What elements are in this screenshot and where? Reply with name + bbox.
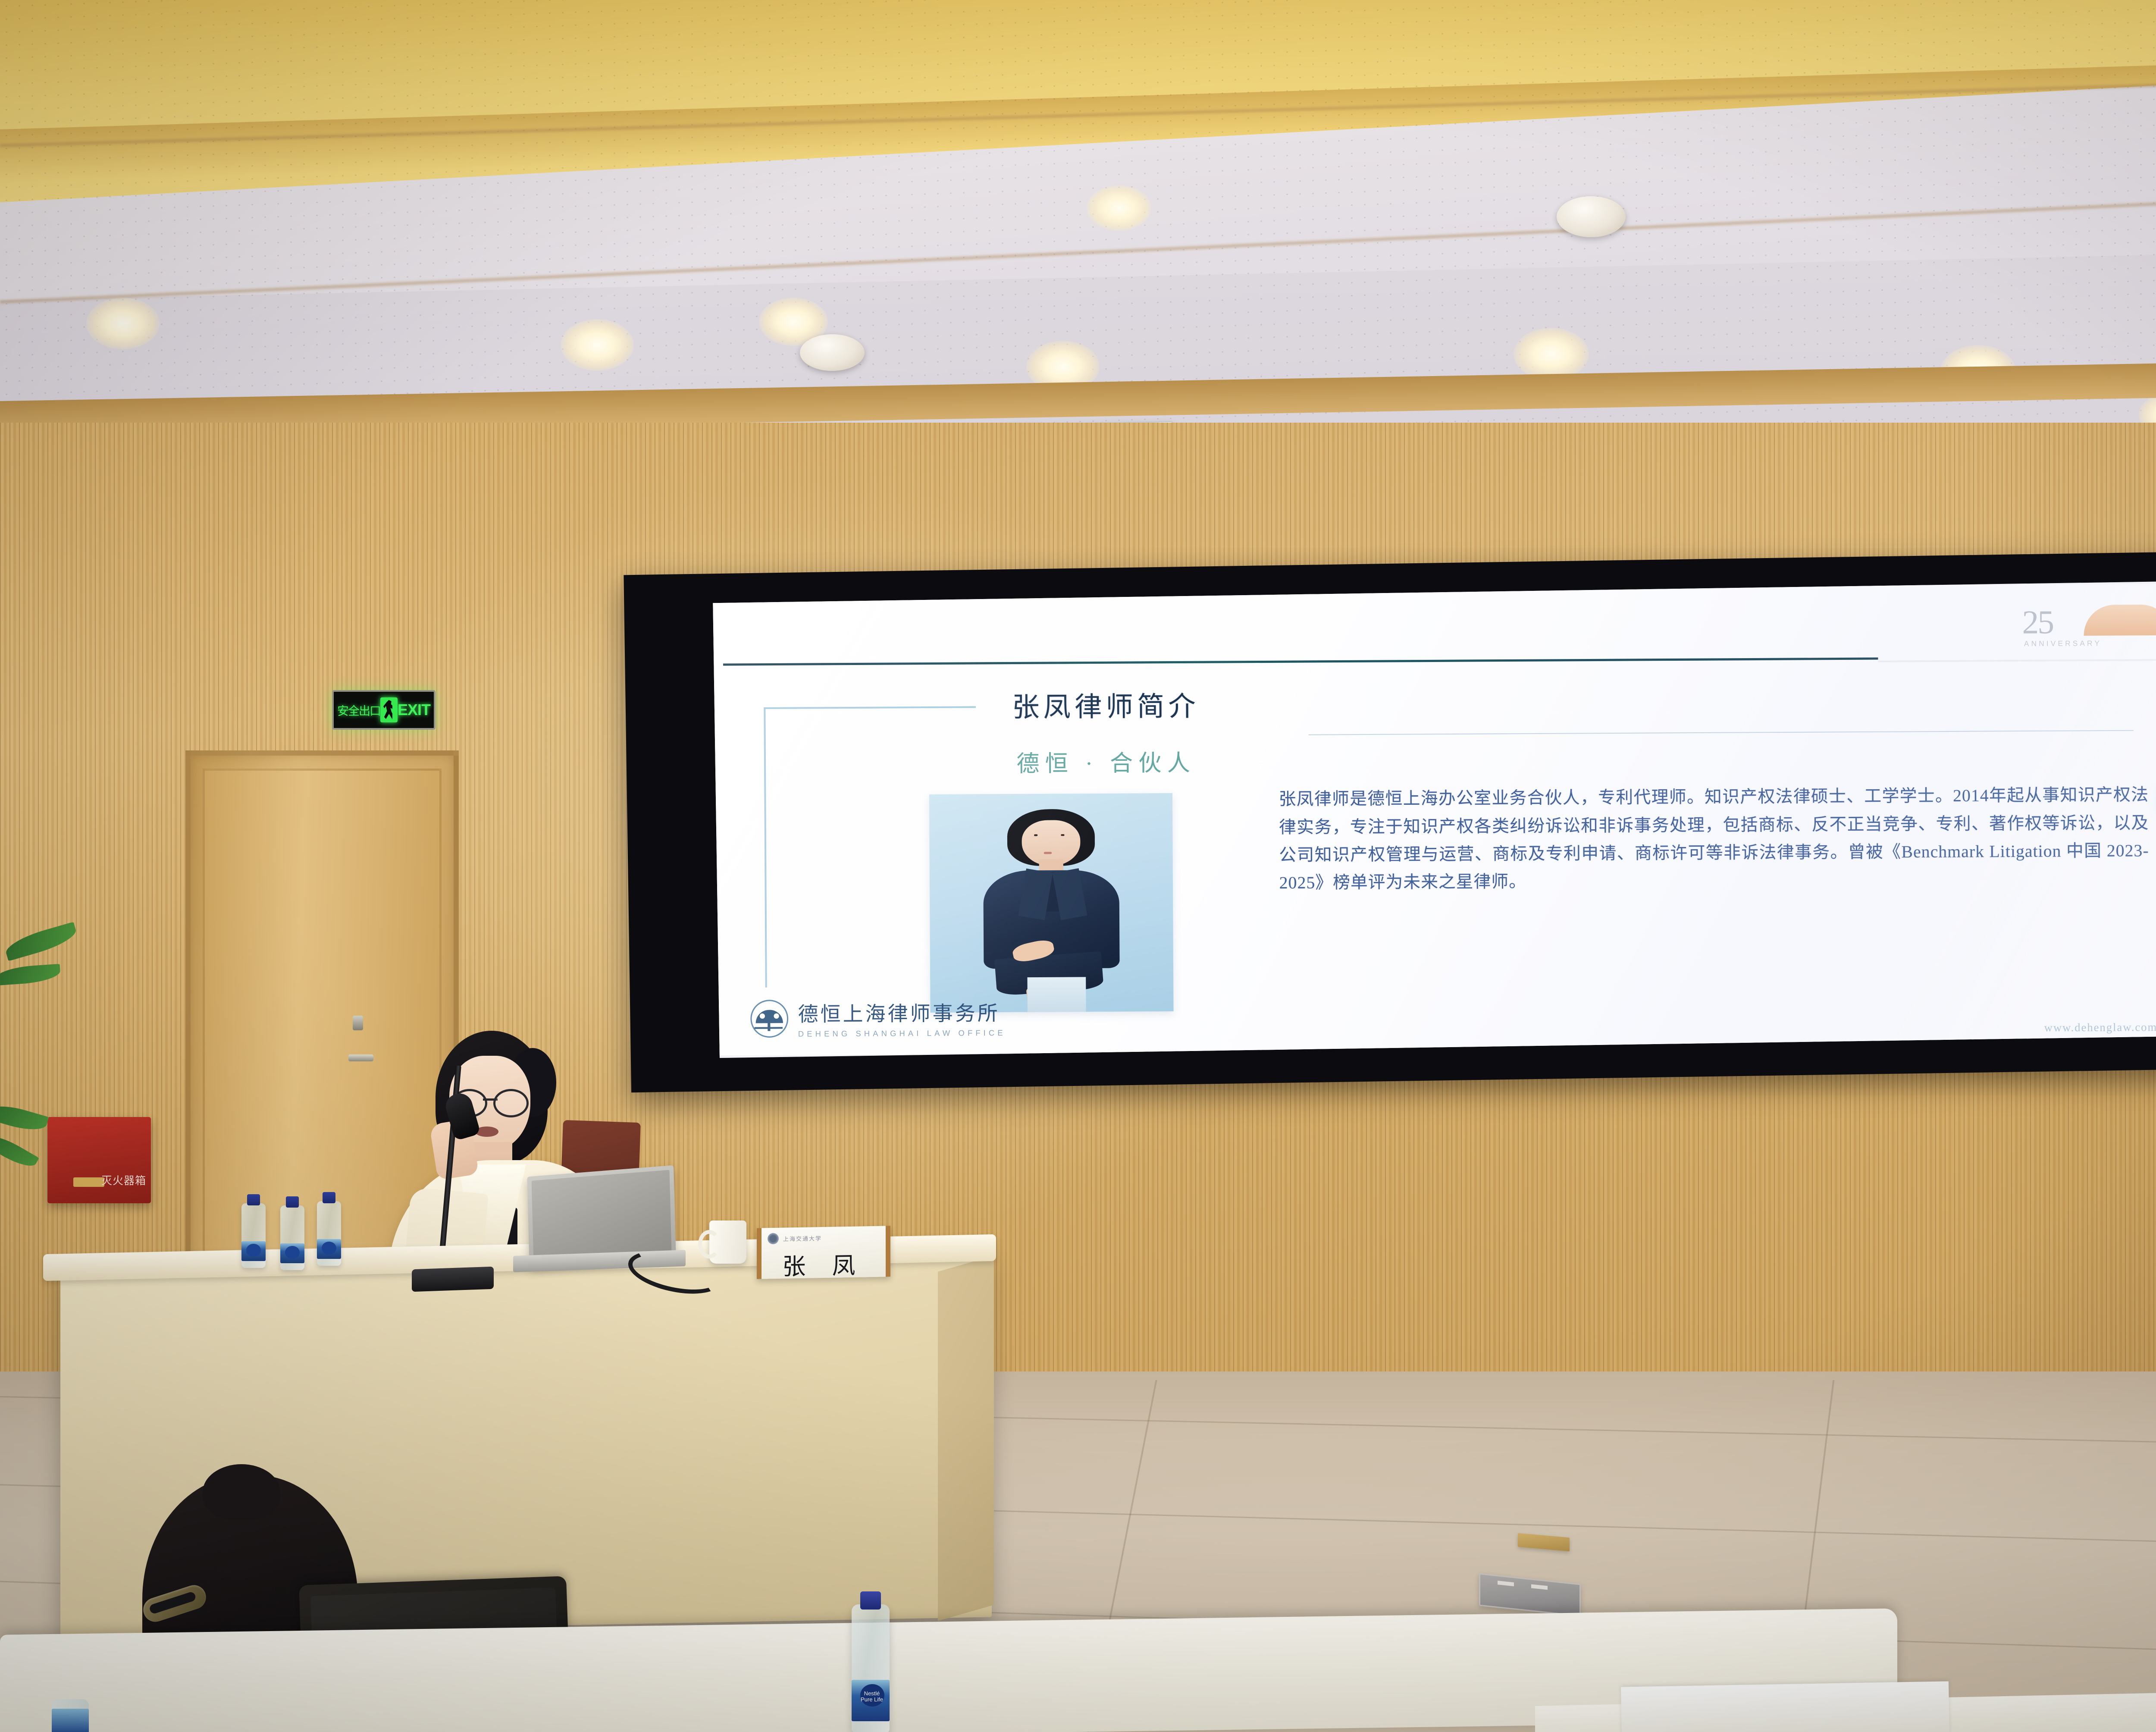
firm-name-cn: 德恒上海律师事务所 xyxy=(798,997,1006,1027)
ceiling-downlight xyxy=(1514,328,1589,380)
exit-sign-label-en: EXIT xyxy=(398,701,430,719)
anniversary-badge: 25 ANNIVERSARY xyxy=(2022,600,2156,653)
microphone-base xyxy=(412,1267,494,1292)
deheng-scales-logo-icon xyxy=(750,1000,788,1038)
ceiling-downlight xyxy=(86,298,160,349)
plant-leaf xyxy=(3,922,79,961)
firm-name-en: DEHENG SHANGHAI LAW OFFICE xyxy=(798,1029,1006,1039)
bottle-label-logo xyxy=(322,1242,336,1255)
slide-title: 张凤律师简介 xyxy=(881,683,1331,725)
ceiling-speaker-dome xyxy=(800,334,865,371)
portrait-eye xyxy=(1061,834,1064,836)
potted-plant xyxy=(0,927,112,1238)
slide-footer-logo: 德恒上海律师事务所 DEHENG SHANGHAI LAW OFFICE xyxy=(750,997,1006,1039)
portrait-photo xyxy=(929,793,1173,1013)
running-person-exit-icon xyxy=(380,697,398,722)
logo-dot-left xyxy=(760,1013,765,1019)
slide-subtitle: 德恒 · 合伙人 xyxy=(881,744,1331,779)
water-bottle[interactable] xyxy=(241,1203,266,1268)
ceiling-speaker-dome xyxy=(1557,196,1626,237)
glasses-lens-right xyxy=(493,1089,529,1117)
bottle-brand-line2: Pure Life xyxy=(859,1697,885,1703)
presenter-desk-side xyxy=(938,1255,994,1621)
portrait-eye xyxy=(1034,834,1037,836)
slide-bio-text: 张凤律师是德恒上海办公室业务合伙人，专利代理师。知识产权法律硕士、工学学士。20… xyxy=(1279,781,2150,897)
portrait-mouth xyxy=(1044,852,1052,854)
paper-sheet xyxy=(1621,1681,1949,1732)
water-bottle[interactable] xyxy=(280,1205,304,1270)
water-bottle[interactable] xyxy=(317,1201,341,1266)
emergency-exit-sign: 安全出口 EXIT xyxy=(332,690,436,730)
slide-footer-url: www.dehenglaw.com xyxy=(2044,1021,2156,1035)
coffee-mug[interactable] xyxy=(709,1221,746,1264)
attendee-hair-bun xyxy=(203,1464,280,1520)
bio-divider xyxy=(1308,730,2133,735)
slide-header-rule xyxy=(723,657,1878,665)
bottle-brand-text: Nestlé Pure Life xyxy=(859,1691,885,1703)
slide-header-rule-tail xyxy=(1878,659,2156,662)
lecture-hall-scene: 安全出口 EXIT 灭火器箱 25 ANNIVERSARY xyxy=(0,0,2156,1732)
bottle-brand-line1: Nestlé xyxy=(859,1691,885,1697)
anniversary-blob-icon xyxy=(2084,604,2156,635)
anniversary-sub: ANNIVERSARY xyxy=(2024,639,2102,648)
door-handle-icon[interactable] xyxy=(348,1054,373,1061)
projection-screen-bezel: 25 ANNIVERSARY 张凤律师简介 德恒 · 合伙人 xyxy=(624,551,2156,1092)
logo-dot-right xyxy=(774,1013,779,1019)
door-lock-icon[interactable] xyxy=(353,1016,363,1030)
bottle-label-logo xyxy=(246,1244,261,1257)
bottle-cap xyxy=(860,1591,881,1610)
anniversary-number: 25 xyxy=(2022,603,2053,642)
plant-leaf xyxy=(0,1130,39,1172)
university-seal-icon xyxy=(768,1233,779,1244)
ceiling-downlight xyxy=(1087,185,1151,231)
name-placard: 上海交通大学 张 凤 xyxy=(757,1226,890,1279)
logo-base-bar xyxy=(755,1027,783,1029)
bottle-label xyxy=(52,1709,89,1732)
presentation-slide: 25 ANNIVERSARY 张凤律师简介 德恒 · 合伙人 xyxy=(713,584,2156,1055)
exit-sign-label-cn: 安全出口 xyxy=(337,702,380,719)
plant-leaf xyxy=(0,1101,49,1136)
projection-screen-surface[interactable]: 25 ANNIVERSARY 张凤律师简介 德恒 · 合伙人 xyxy=(713,581,2156,1058)
plant-leaf xyxy=(0,964,61,985)
ceiling-downlight xyxy=(561,319,634,371)
portrait-stool xyxy=(1028,977,1086,1012)
placard-org: 上海交通大学 xyxy=(783,1234,822,1243)
bottle-label-logo xyxy=(285,1246,300,1259)
laptop-screen xyxy=(532,1170,672,1263)
placard-name: 张 凤 xyxy=(761,1246,886,1282)
